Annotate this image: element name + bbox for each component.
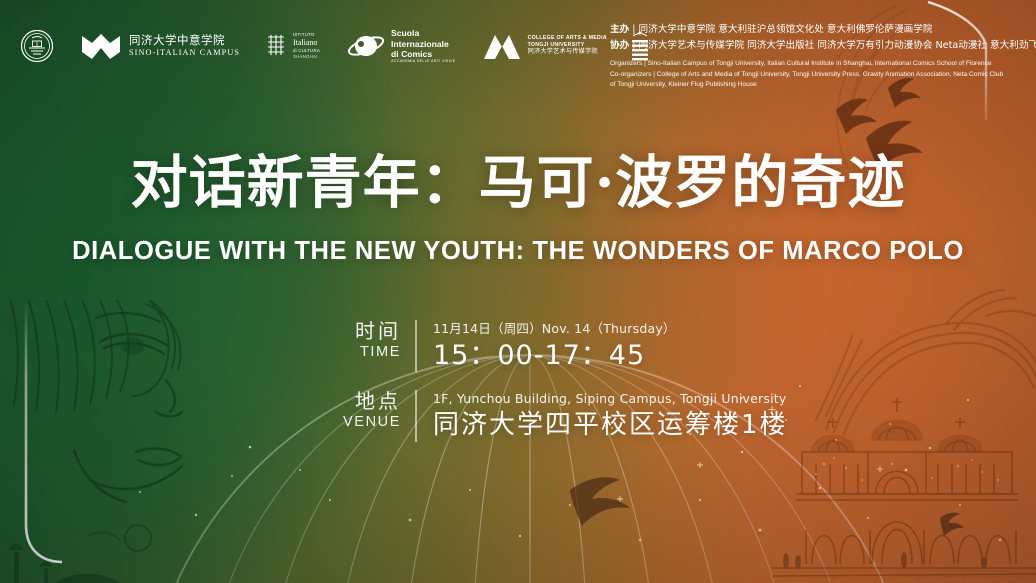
venue-divider — [415, 390, 417, 441]
istituto-line2: Italiano — [293, 38, 320, 48]
sino-italian-campus-cn: 同济大学中意学院 — [129, 34, 240, 47]
organizers-en-line1: Organizers | Sino-Italian Campus of Tong… — [610, 59, 1020, 70]
time-label-cn: 时间 — [355, 320, 401, 343]
istituto-italiano-cultura-logo: ISTITUTO Italiano di CULTURA SHANGHAI — [266, 24, 320, 68]
istituto-line4: SHANGHAI — [293, 54, 320, 60]
venice-basilica-illustration — [772, 368, 1036, 583]
organizers-en-line3: of Tongji University, Kleiner Flug Publi… — [610, 80, 1020, 91]
venue-label-cn: 地点 — [355, 390, 401, 413]
sino-italian-campus-en: SINO-ITALIAN CAMPUS — [129, 48, 240, 58]
page-title-english: DIALOGUE WITH THE NEW YOUTH: THE WONDERS… — [0, 237, 1036, 266]
time-row: 时间 TIME 11月14日（周四）Nov. 14（Thursday） 15：0… — [343, 320, 788, 372]
host-value: 同济大学中意学院 意大利驻沪总领馆文化处 意大利佛罗伦萨漫画学院 — [639, 24, 933, 35]
page-title-chinese: 对话新青年：马可·波罗的奇迹 — [0, 150, 1036, 216]
cohost-line: 协办 | 同济大学艺术与传媒学院 同济大学出版社 同济大学万有引力动漫协会 Ne… — [610, 38, 1020, 54]
tongji-seal-logo — [20, 24, 54, 68]
venue-row: 地点 VENUE 1F, Yunchou Building, Siping Ca… — [343, 390, 788, 441]
time-label: 时间 TIME — [343, 320, 415, 362]
venue-en: 1F, Yunchou Building, Siping Campus, Ton… — [433, 390, 788, 408]
scuola-line4: ACCADEMIA DELLE ARTI VISIVE — [391, 59, 456, 64]
cohost-value: 同济大学艺术与传媒学院 同济大学出版社 同济大学万有引力动漫协会 Neta动漫社… — [639, 40, 1036, 51]
host-line: 主办 | 同济大学中意学院 意大利驻沪总领馆文化处 意大利佛罗伦萨漫画学院 — [610, 22, 1020, 38]
event-poster: 同济大学中意学院 SINO-ITALIAN CAMPUS ISTITUTO It… — [0, 0, 1036, 583]
event-info-block: 时间 TIME 11月14日（周四）Nov. 14（Thursday） 15：0… — [343, 320, 788, 442]
venue-cn: 同济大学四平校区运筹楼1楼 — [433, 410, 788, 442]
sino-italian-campus-logo: 同济大学中意学院 SINO-ITALIAN CAMPUS — [80, 24, 240, 68]
scuola-line1: Scuola — [391, 28, 456, 38]
sponsor-logo-row: 同济大学中意学院 SINO-ITALIAN CAMPUS ISTITUTO It… — [20, 24, 651, 68]
organizers-en-line2: Co-organizers | College of Arts and Medi… — [610, 70, 1020, 81]
time-label-en: TIME — [360, 343, 401, 362]
time-value: 15：00-17：45 — [433, 340, 676, 373]
scuola-line3: di Comics — [391, 49, 456, 59]
time-date: 11月14日（周四）Nov. 14（Thursday） — [433, 320, 676, 338]
scuola-internazionale-comics-logo: Scuola Internazionale di Comics ACCADEMI… — [346, 24, 456, 68]
cohost-label: 协办 — [610, 40, 629, 51]
college-cn: 同济大学艺术与传媒学院 — [528, 48, 607, 56]
college-arts-media-tongji-logo: COLLEGE OF ARTS & MEDIA TONGJI UNIVERSIT… — [482, 24, 607, 68]
venue-body: 1F, Yunchou Building, Siping Campus, Ton… — [433, 390, 788, 441]
venue-label-en: VENUE — [343, 413, 401, 432]
host-label: 主办 — [610, 24, 629, 35]
organizers-block: 主办 | 同济大学中意学院 意大利驻沪总领馆文化处 意大利佛罗伦萨漫画学院 协办… — [610, 22, 1020, 91]
time-divider — [415, 320, 417, 372]
poster-header: 同济大学中意学院 SINO-ITALIAN CAMPUS ISTITUTO It… — [0, 0, 1036, 96]
venue-label: 地点 VENUE — [343, 390, 415, 432]
time-body: 11月14日（周四）Nov. 14（Thursday） 15：00-17：45 — [433, 320, 676, 372]
scuola-line2: Internazionale — [391, 39, 456, 49]
